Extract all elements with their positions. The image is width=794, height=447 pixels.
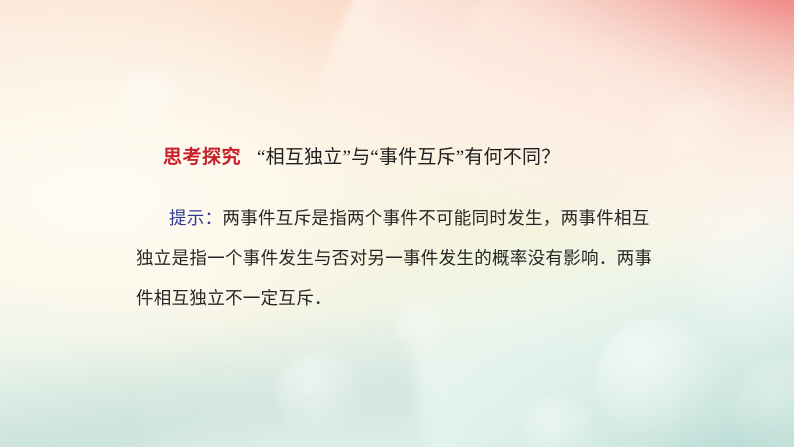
section-heading: 思考探究“相互独立”与“事件互斥”有何不同？ (163, 148, 560, 167)
slide-canvas: 思考探究“相互独立”与“事件互斥”有何不同？ 提示：两事件互斥是指两个事件不可能… (0, 0, 794, 447)
section-label: 思考探究 (163, 147, 241, 168)
answer-line-1: 提示：两事件互斥是指两个事件不可能同时发生，两事件相互 (136, 198, 688, 238)
answer-block: 提示：两事件互斥是指两个事件不可能同时发生，两事件相互 独立是指一个事件发生与否… (136, 198, 688, 318)
hint-prefix-label: 提示： (169, 208, 222, 228)
answer-line-3: 件相互独立不一定互斥． (136, 278, 688, 318)
answer-line-2: 独立是指一个事件发生与否对另一事件发生的概率没有影响．两事 (136, 238, 688, 278)
section-question: “相互独立”与“事件互斥”有何不同？ (257, 147, 560, 168)
slide-content: 思考探究“相互独立”与“事件互斥”有何不同？ 提示：两事件互斥是指两个事件不可能… (0, 0, 794, 447)
answer-line-1-text: 两事件互斥是指两个事件不可能同时发生，两事件相互 (222, 208, 649, 228)
